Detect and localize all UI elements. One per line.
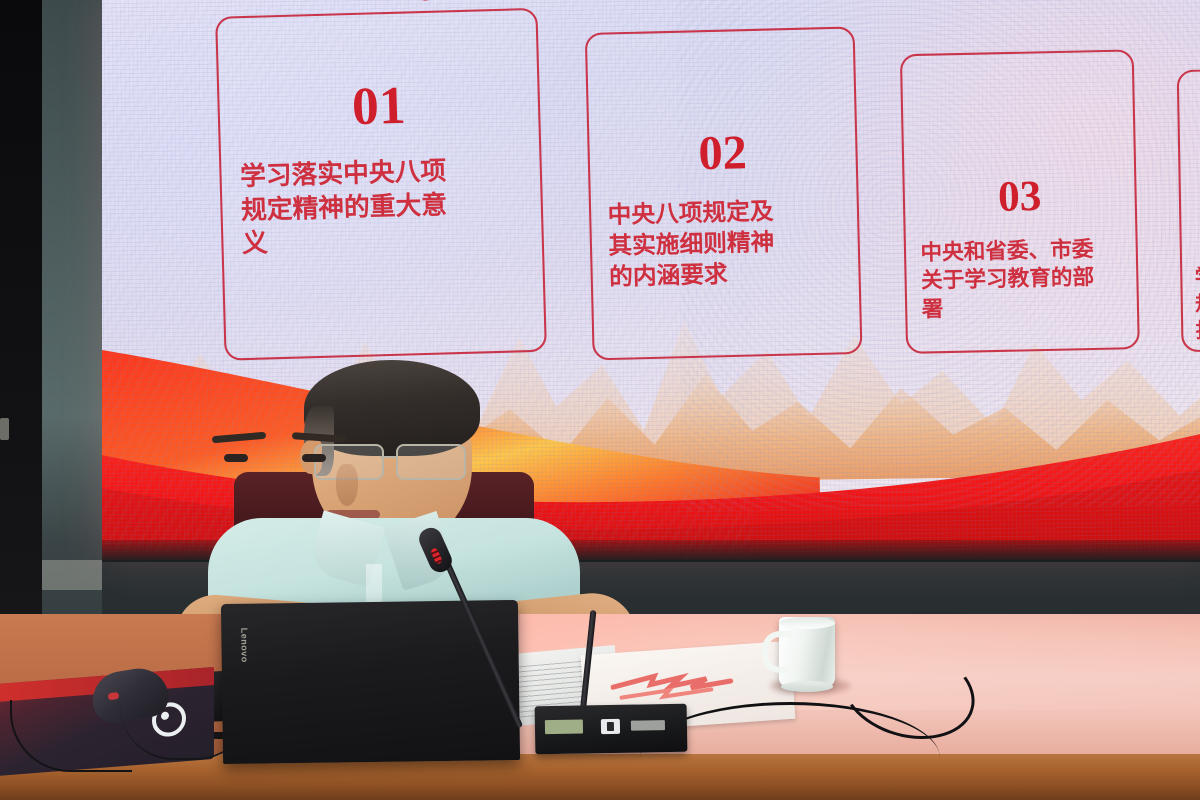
eye-left	[224, 454, 248, 462]
contents-card-04[interactable]: 04 学习落实中… 规定精神，… 投发展稳步…	[1177, 66, 1200, 352]
eye-right	[302, 454, 326, 462]
eyeglasses	[308, 444, 480, 478]
mic-base-text-plate	[631, 720, 665, 731]
card-number-03: 03	[905, 173, 1136, 221]
card-text-01: 学习落实中央八项 规定精神的重大意 义	[221, 152, 542, 261]
contents-card-01[interactable]: 01 学习落实中央八项 规定精神的重大意 义	[215, 8, 547, 361]
coffee-mug[interactable]	[779, 617, 835, 687]
glasses-bridge	[380, 456, 398, 458]
card-number-04: 04	[1181, 200, 1200, 245]
microphone-base-unit[interactable]	[535, 704, 688, 755]
card-text-03: 中央和省委、市委 关于学习教育的部 署	[906, 235, 1137, 324]
lens-right	[396, 444, 466, 480]
mug-handle	[762, 631, 792, 673]
card-number-02: 02	[589, 126, 856, 181]
eyebrow-left	[212, 432, 266, 444]
lenovo-logo: Lenovo	[233, 628, 250, 670]
letterhead-red-mark	[610, 664, 740, 703]
card-text-02: 中央八项规定及 其实施细则精神 的内涵要求	[591, 195, 859, 294]
mug-base	[781, 681, 833, 692]
card-text-04: 学习落实中… 规定精神，… 投发展稳步…	[1182, 260, 1200, 344]
mic-mute-button[interactable]	[601, 719, 620, 734]
nose	[336, 464, 358, 506]
door-handle-icon	[0, 418, 9, 440]
card-number-01: 01	[219, 76, 539, 138]
mic-base-sticker	[545, 719, 583, 734]
mug-rim	[779, 617, 835, 629]
contents-card-03[interactable]: 03 中央和省委、市委 关于学习教育的部 署	[900, 49, 1140, 354]
contents-card-02[interactable]: 02 中央八项规定及 其实施细则精神 的内涵要求	[585, 26, 863, 360]
photo-scene: c o n t e n t s 01 学习落实中央八项 规定精神的重大意 义 0…	[0, 0, 1200, 800]
